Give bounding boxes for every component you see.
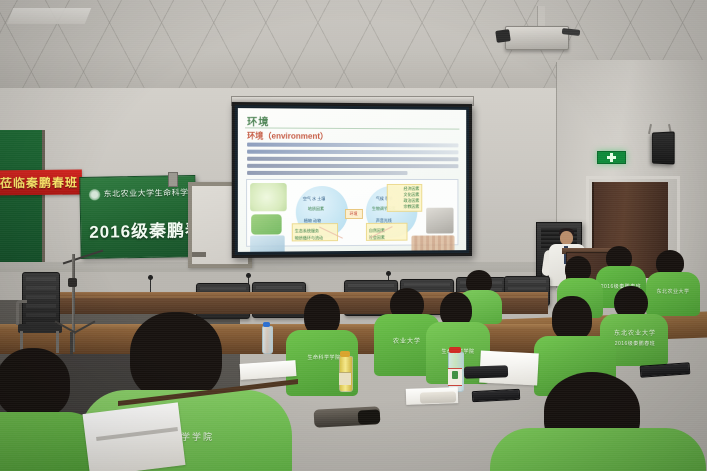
- diagram-image-water: [250, 235, 285, 251]
- red-banner-text: 莅临秦鹏春班: [0, 174, 78, 192]
- water-bottle[interactable]: [262, 326, 273, 354]
- bottle-cap-icon: [449, 347, 461, 353]
- diagram-image-globe: [250, 183, 287, 211]
- diagram-node-text: 政治因素: [404, 198, 420, 203]
- emergency-exit-sign: [597, 151, 626, 164]
- tripod-leg: [70, 332, 73, 356]
- diagram-node-text: 经济因素: [404, 186, 420, 191]
- diagram-center-label: 环境: [345, 209, 363, 219]
- bag-strap: [358, 409, 381, 424]
- ceiling-light-panel: [7, 8, 91, 24]
- bottle-cap-icon: [340, 351, 350, 357]
- whiteboard-tray: [192, 252, 206, 257]
- classroom-photo: 莅临秦鹏春班 东北农业大学生命科学学院 2016级秦鹏春班 环境 环境（envi…: [0, 0, 707, 471]
- pencil-case[interactable]: [464, 365, 508, 379]
- diagram-node-text: 生态系统服务: [295, 228, 319, 233]
- slide-title-rule: [245, 127, 459, 129]
- side-chair-armrest: [16, 300, 27, 325]
- shirt-text: 2016级秦鹏春班: [608, 340, 662, 347]
- bottle-cap-icon: [263, 322, 270, 327]
- student-hair: [552, 296, 592, 340]
- slide-diagram: 空气 水 土壤 地质因素 植物 动物 气候 季节 生物调节因素 声音光线 经济因…: [246, 179, 458, 247]
- slide-body-line: [247, 171, 407, 175]
- bottle-label-mark: [452, 371, 458, 379]
- wall-speaker-icon: [652, 131, 675, 164]
- diagram-node-text: 地质因素: [308, 206, 324, 211]
- student-shirt: 东北农业大学: [646, 272, 700, 316]
- slide-body-line: [247, 164, 458, 168]
- student-hair: [0, 348, 70, 418]
- banner-class-name: 2016级秦鹏春班: [89, 216, 189, 243]
- slide-body-line: [247, 150, 458, 155]
- slide-body-line: [247, 143, 458, 148]
- projector-mount-pole: [537, 6, 545, 28]
- projector-icon: [505, 26, 569, 50]
- projection-screen: 环境 环境（environment） 空气 水 土壤 地质因素 植物 动物 气候: [232, 102, 472, 258]
- lecturer-head: [560, 231, 573, 245]
- shirt-text: 东北农业大学: [652, 288, 694, 295]
- student-shirt: 命科学学院: [490, 428, 706, 471]
- university-logo-icon: [89, 189, 101, 201]
- diagram-image-crowd: [411, 235, 454, 252]
- green-class-banner: 东北农业大学生命科学学院 2016级秦鹏春班: [79, 175, 196, 259]
- student-hair: [130, 312, 222, 400]
- projector-lens-icon: [495, 29, 511, 43]
- red-welcome-banner: 莅临秦鹏春班: [0, 170, 82, 196]
- tripod-knob[interactable]: [68, 278, 77, 287]
- bottle-label: [339, 372, 351, 385]
- pencil-case[interactable]: [420, 391, 456, 403]
- smartphone[interactable]: [640, 362, 691, 377]
- diagram-image-factory: [426, 208, 453, 234]
- smartphone[interactable]: [472, 389, 521, 402]
- side-chair-leg: [56, 331, 59, 353]
- shirt-text: 农业大学: [384, 336, 430, 345]
- slide-subtitle: 环境（environment）: [247, 130, 328, 141]
- diagram-node-text: 宗教因素: [404, 204, 420, 209]
- slide-title: 环境: [247, 113, 269, 128]
- presentation-slide: 环境 环境（environment） 空气 水 土壤 地质因素 植物 动物 气候: [238, 108, 466, 252]
- diagram-image-leaf: [251, 214, 281, 234]
- green-chalkboard: [0, 130, 45, 262]
- diagram-node-text: 文化因素: [404, 192, 420, 197]
- banner-clip: [168, 172, 178, 187]
- green-cross-icon: [607, 153, 616, 162]
- diagram-node-text: 物质循环与流动: [295, 235, 323, 240]
- diagram-node-text: 空气 水 土壤: [303, 196, 325, 201]
- slide-body-line: [247, 157, 458, 161]
- banner-university-name: 东北农业大学生命科学学院: [103, 187, 189, 199]
- shirt-text: 东北农业大学: [610, 328, 660, 337]
